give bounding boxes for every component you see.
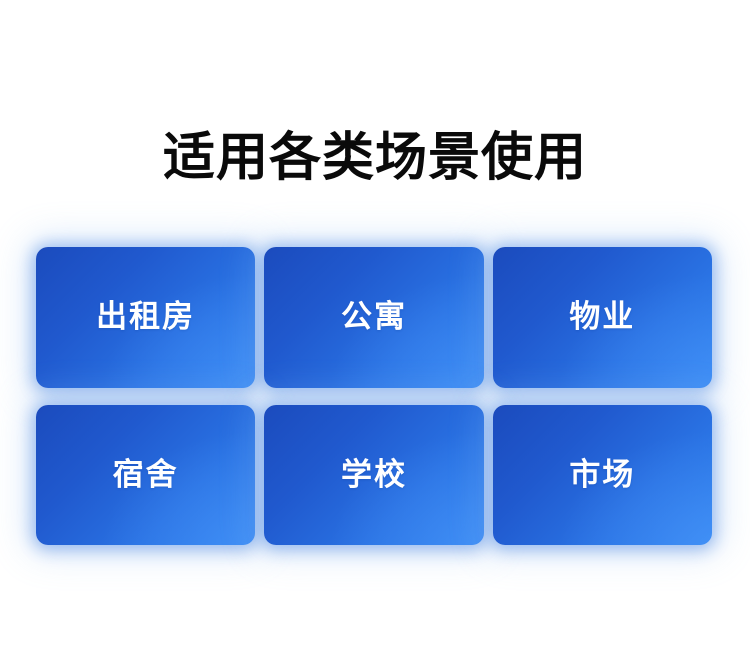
scenario-card-property[interactable]: 物业 (493, 247, 712, 388)
page-title: 适用各类场景使用 (0, 127, 750, 189)
scenario-card-apartment[interactable]: 公寓 (264, 247, 483, 388)
scenario-card-label: 物业 (569, 297, 635, 337)
scenario-card-label: 出租房 (96, 297, 195, 337)
scenario-card-dormitory[interactable]: 宿舍 (36, 405, 255, 546)
scenario-card-label: 学校 (341, 455, 407, 495)
scenario-card-label: 宿舍 (113, 455, 179, 495)
scenario-card-market[interactable]: 市场 (493, 405, 712, 546)
scenario-card-rental-room[interactable]: 出租房 (36, 247, 255, 388)
page-root: 适用各类场景使用 出租房 公寓 物业 宿舍 学校 市场 (0, 0, 750, 650)
scenario-card-label: 市场 (569, 455, 635, 495)
scenario-card-school[interactable]: 学校 (264, 405, 483, 546)
scenario-card-label: 公寓 (341, 297, 407, 337)
scenario-card-grid: 出租房 公寓 物业 宿舍 学校 市场 (36, 247, 712, 545)
